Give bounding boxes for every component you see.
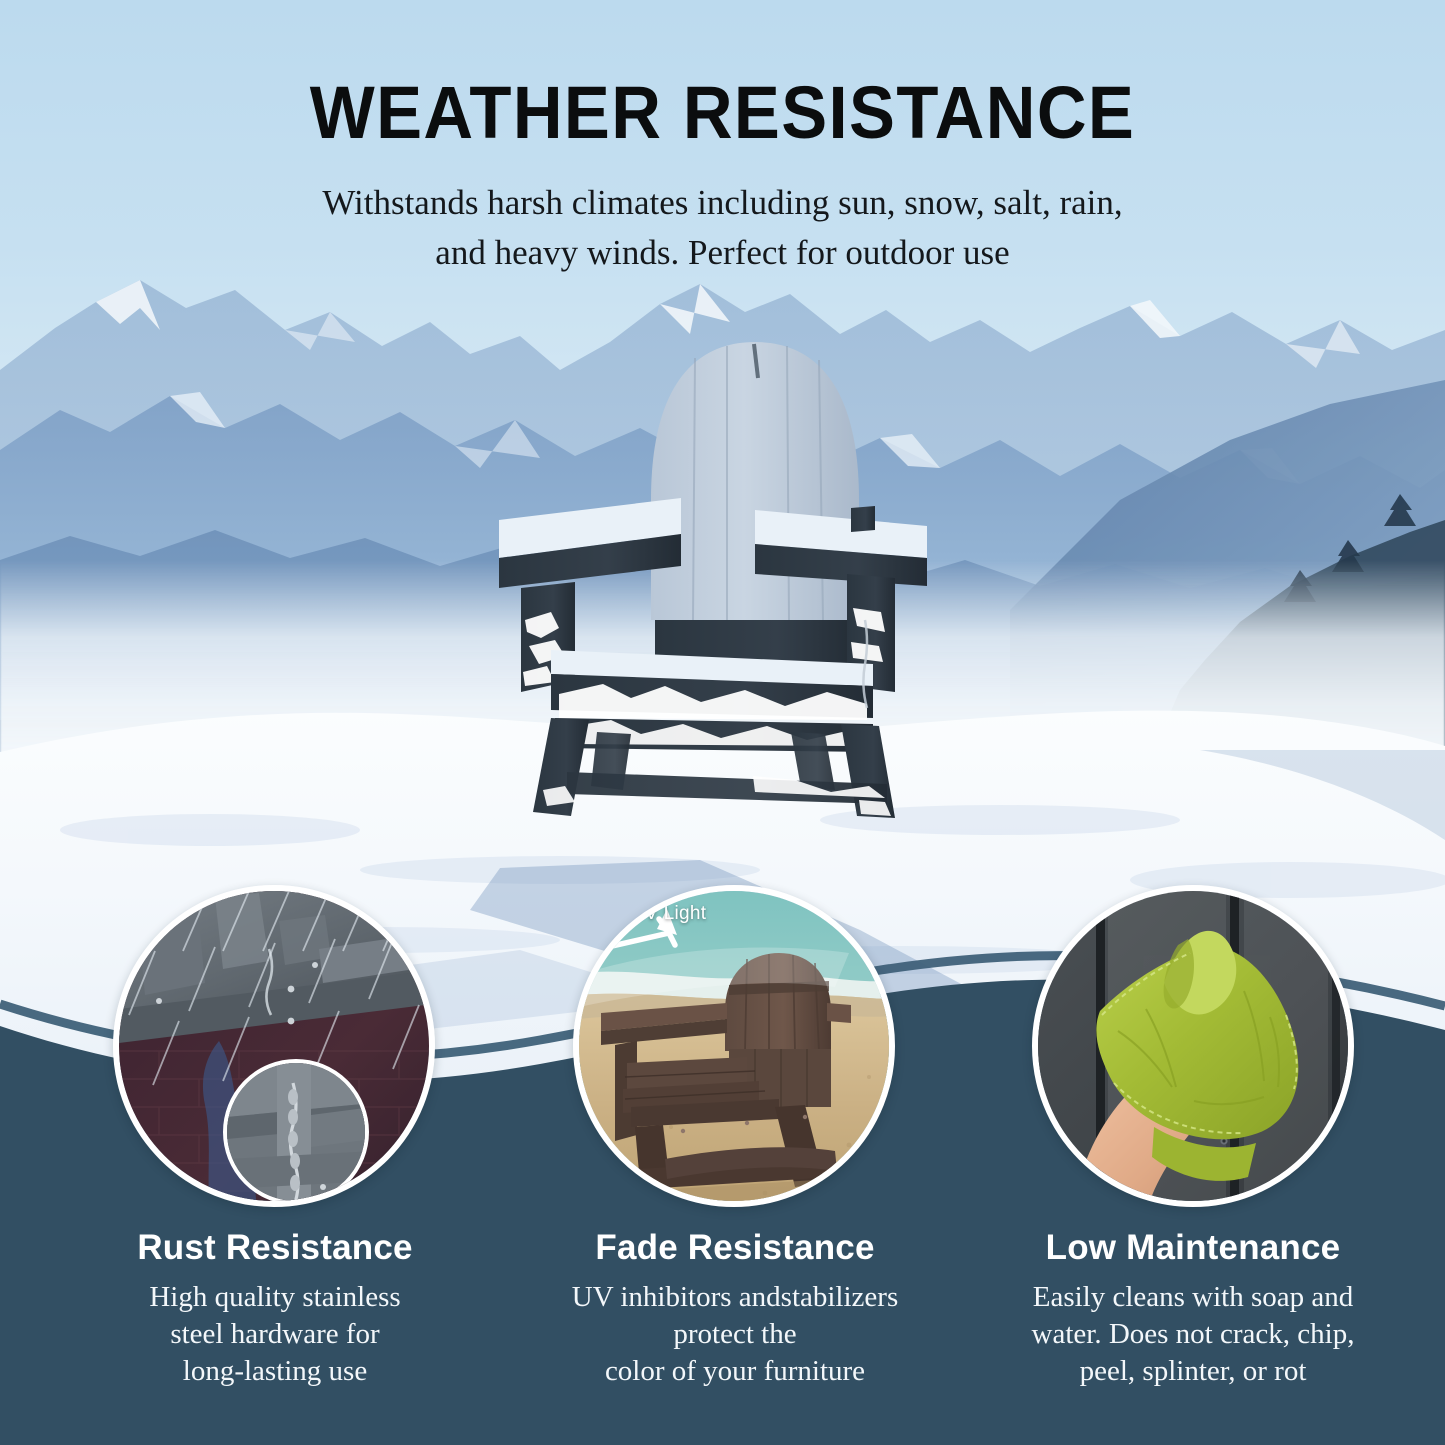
caption-maintenance-line-1: Easily cleans with soap and	[988, 1279, 1398, 1316]
caption-fade-line-2: protect the	[530, 1316, 940, 1353]
subtitle-line-2: and heavy winds. Perfect for outdoor use	[0, 228, 1445, 278]
cleaning-scene	[1038, 891, 1348, 1201]
rust-inset-detail-circle	[223, 1059, 369, 1205]
caption-rust-line-2: steel hardware for	[70, 1316, 480, 1353]
page-subtitle: Withstands harsh climates including sun,…	[0, 178, 1445, 277]
caption-maintenance-line-3: peel, splinter, or rot	[988, 1353, 1398, 1390]
caption-rust-resistance: Rust Resistance High quality stainless s…	[70, 1228, 480, 1391]
page-title: WEATHER RESISTANCE	[51, 76, 1395, 150]
caption-low-maintenance: Low Maintenance Easily cleans with soap …	[988, 1228, 1398, 1391]
caption-title-maintenance: Low Maintenance	[988, 1228, 1398, 1267]
header-block: WEATHER RESISTANCE Withstands harsh clim…	[0, 0, 1445, 277]
caption-body-fade: UV inhibitors andstabilizers protect the…	[530, 1279, 940, 1390]
uv-light-label: UV Light	[631, 903, 706, 925]
hero-adirondack-chair	[455, 320, 975, 840]
caption-body-rust: High quality stainless steel hardware fo…	[70, 1279, 480, 1390]
caption-body-maintenance: Easily cleans with soap and water. Does …	[988, 1279, 1398, 1390]
caption-fade-line-1: UV inhibitors andstabilizers	[530, 1279, 940, 1316]
feature-image-low-maintenance[interactable]	[1032, 885, 1354, 1207]
caption-rust-line-3: long-lasting use	[70, 1353, 480, 1390]
caption-rust-line-1: High quality stainless	[70, 1279, 480, 1316]
caption-title-fade: Fade Resistance	[530, 1228, 940, 1267]
subtitle-line-1: Withstands harsh climates including sun,…	[0, 178, 1445, 228]
caption-fade-resistance: Fade Resistance UV inhibitors andstabili…	[530, 1228, 940, 1391]
feature-image-fade-resistance[interactable]: UV Light	[573, 885, 895, 1207]
fade-beach-scene	[579, 891, 889, 1201]
infographic-root: WEATHER RESISTANCE Withstands harsh clim…	[0, 0, 1445, 1445]
caption-title-rust: Rust Resistance	[70, 1228, 480, 1267]
caption-maintenance-line-2: water. Does not crack, chip,	[988, 1316, 1398, 1353]
caption-fade-line-3: color of your furniture	[530, 1353, 940, 1390]
feature-image-rust-resistance[interactable]	[113, 885, 435, 1207]
